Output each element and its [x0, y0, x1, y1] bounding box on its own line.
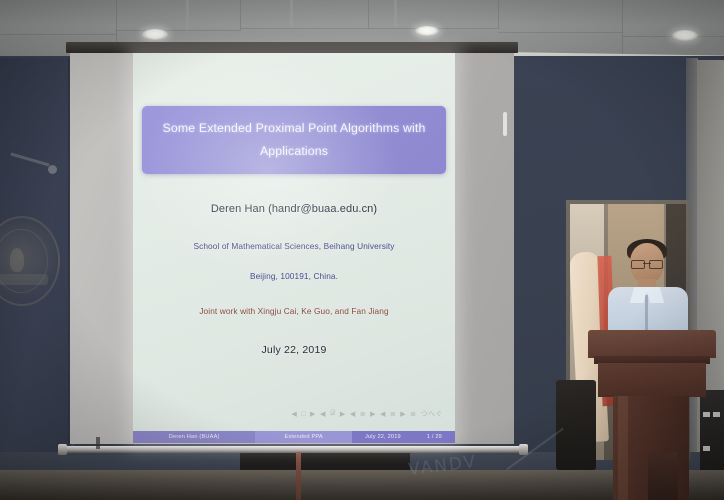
- ceiling-beam: [394, 0, 397, 27]
- nav-symbol[interactable]: ▶: [400, 410, 406, 418]
- screen-hanger: [96, 437, 100, 449]
- ceiling-tile: [0, 0, 117, 35]
- ceiling-downlight: [672, 30, 698, 41]
- nav-symbol[interactable]: ▶: [370, 410, 376, 418]
- nav-symbol[interactable]: ▶: [340, 410, 346, 418]
- slide-author: Deren Han (handr@buaa.edu.cn): [133, 203, 455, 215]
- ceiling-tile: [116, 0, 241, 31]
- nav-symbol[interactable]: ◀: [380, 410, 386, 418]
- ceiling-beam: [186, 0, 189, 30]
- nav-symbol-search-icon[interactable]: つへぐ: [421, 409, 444, 419]
- wall-hook-icon: [10, 158, 56, 174]
- support-pole: [296, 452, 301, 500]
- projected-slide: Some Extended Proximal Point Algorithms …: [133, 53, 455, 443]
- slide-joint-work: Joint work with Xingju Cai, Ke Guo, and …: [133, 306, 455, 316]
- ceiling-downlight: [415, 26, 439, 36]
- ceiling-downlight: [142, 29, 168, 40]
- screen-bar-end-cap: [58, 444, 67, 455]
- projector-screen-housing: [66, 42, 518, 53]
- footer-date: July 22, 2019: [365, 434, 401, 440]
- ceiling-tile: [622, 0, 724, 37]
- footer-page-number: 1 / 29: [427, 434, 442, 440]
- screen-marker: [503, 112, 507, 136]
- lecture-hall-photo: Some Extended Proximal Point Algorithms …: [0, 0, 724, 500]
- nav-symbol[interactable]: ◀: [320, 410, 326, 418]
- nav-symbol-back-icon[interactable]: ≣: [410, 410, 416, 418]
- ceiling-beam: [290, 0, 293, 28]
- slide-body: Deren Han (handr@buaa.edu.cn) School of …: [133, 203, 455, 356]
- slide-title-line-2: Applications: [260, 140, 328, 163]
- screen-bar-end-cap: [519, 444, 528, 455]
- slide-title-line-1: Some Extended Proximal Point Algorithms …: [163, 117, 426, 140]
- slide-date: July 22, 2019: [133, 344, 455, 356]
- footer-talk-title: Extended PPA: [255, 431, 352, 443]
- beamer-navigation-symbols[interactable]: ◀ □ ▶ ◀ 𝒟 ▶ ◀ ≣ ▶ ◀ ≣ ▶ ≣ つへぐ: [291, 409, 443, 419]
- slide-city: Beijing, 100191, China.: [133, 271, 455, 281]
- footer-date-page: July 22, 2019 1 / 29: [352, 431, 455, 443]
- wall-emblem-seal: [0, 216, 60, 306]
- slide-title-box: Some Extended Proximal Point Algorithms …: [142, 106, 446, 174]
- right-post: [648, 452, 678, 500]
- left-wall: [0, 58, 74, 458]
- slide-footer: Deren Han (BUAA) Extended PPA July 22, 2…: [133, 431, 455, 443]
- ceiling-tile: [240, 0, 369, 29]
- glasses-icon: [631, 260, 663, 267]
- ceiling-tile: [498, 0, 623, 33]
- nav-symbol-subsection-icon[interactable]: ≣: [390, 410, 396, 418]
- footer-author: Deren Han (BUAA): [133, 431, 255, 443]
- nav-symbol[interactable]: ▶: [310, 410, 316, 418]
- ceiling-tile: [368, 0, 499, 29]
- nav-symbol-section-icon[interactable]: ≣: [360, 410, 366, 418]
- nav-symbol-slide-icon[interactable]: □: [301, 411, 306, 418]
- projector-screen-weight-bar: [62, 446, 524, 453]
- nav-symbol[interactable]: ◀: [350, 410, 356, 418]
- nav-symbol-doc-icon[interactable]: 𝒟: [330, 410, 336, 418]
- nav-symbol[interactable]: ◀: [291, 410, 297, 418]
- slide-affiliation: School of Mathematical Sciences, Beihang…: [133, 241, 455, 251]
